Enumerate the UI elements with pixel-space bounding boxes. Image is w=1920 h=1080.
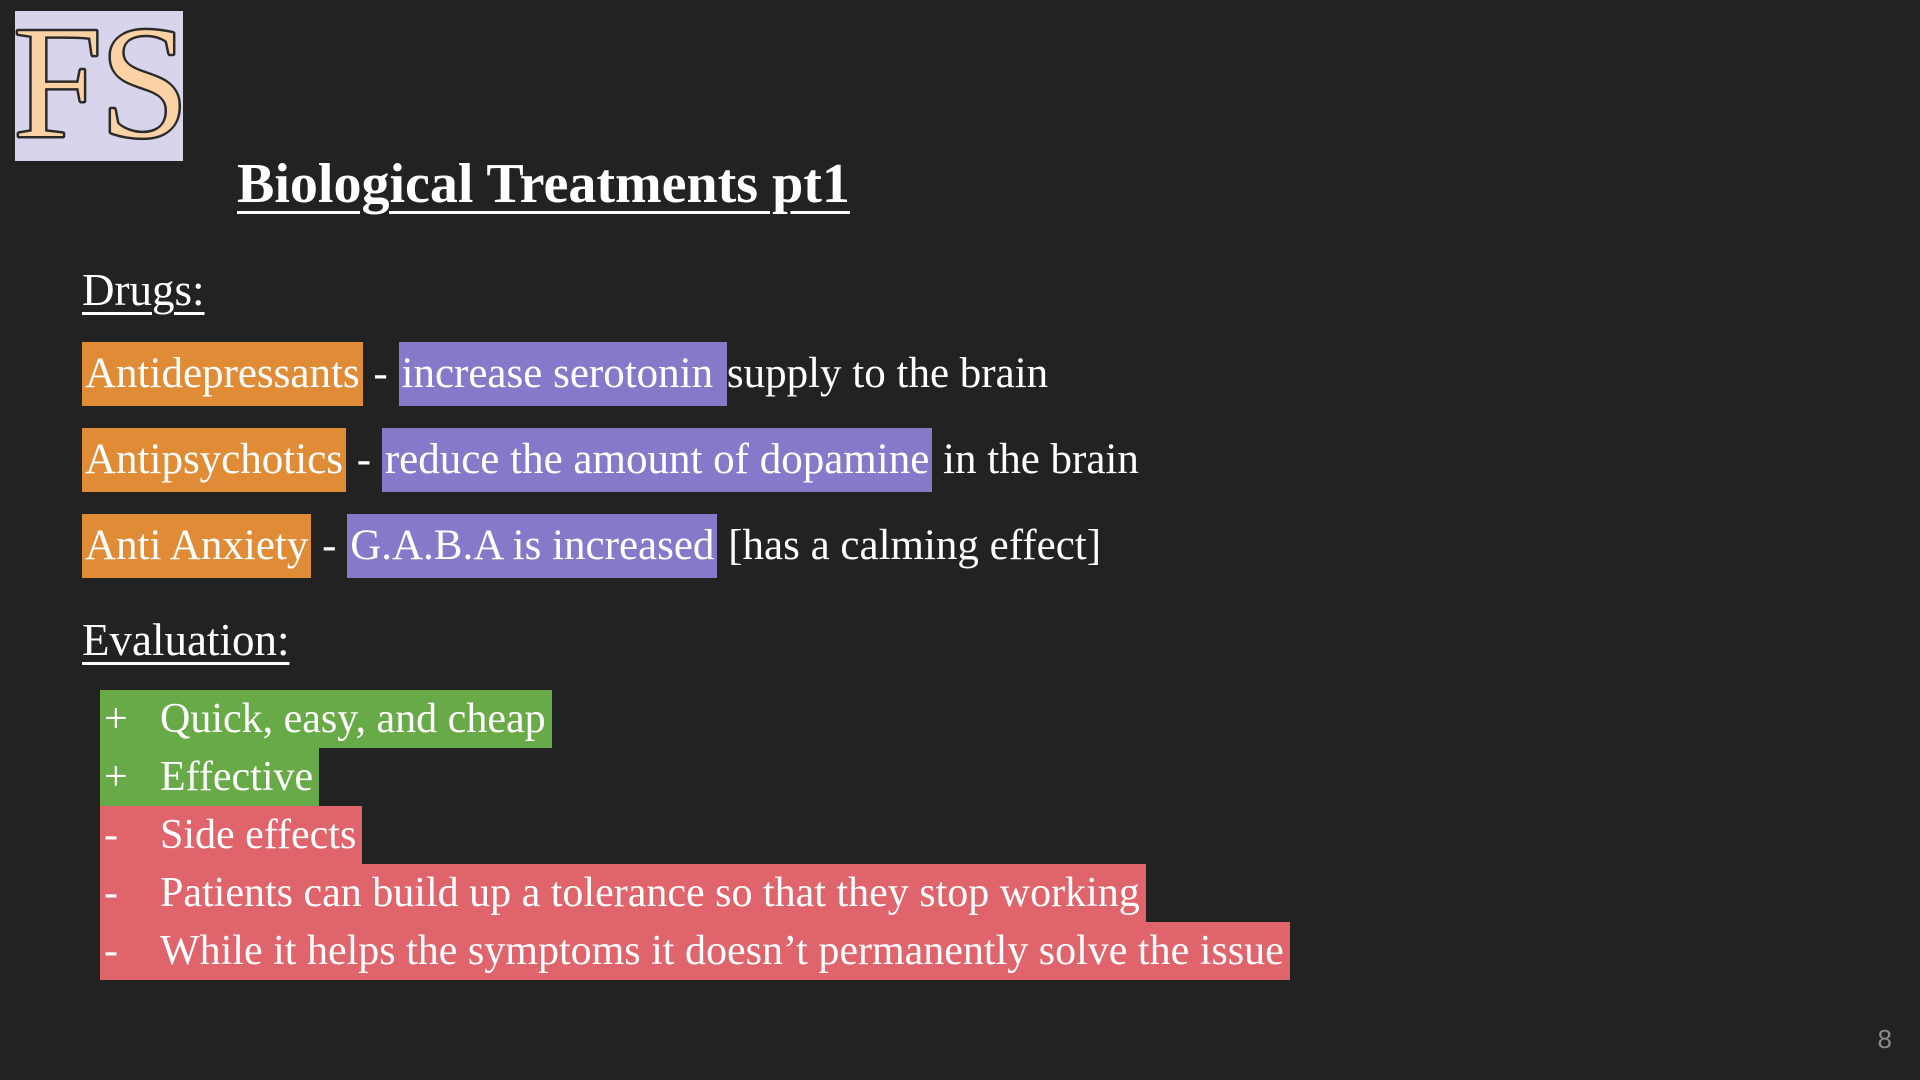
page-number: 8: [1878, 1026, 1892, 1052]
list-item-label: Quick, easy, and cheap: [160, 696, 546, 742]
list-item: -While it helps the symptoms it doesn’t …: [100, 922, 1800, 980]
list-item: +Quick, easy, and cheap: [100, 690, 1800, 748]
drug-line-antipsychotics: Antipsychotics - reduce the amount of do…: [82, 438, 1139, 481]
drugs-heading: Drugs:: [82, 268, 205, 313]
list-item-label: Effective: [160, 754, 313, 800]
minus-icon: -: [104, 922, 160, 980]
drug-line-anti-anxiety: Anti Anxiety - G.A.B.A is increased [has…: [82, 524, 1101, 567]
drug-separator: -: [363, 350, 399, 397]
list-item: -Side effects: [100, 806, 1800, 864]
list-item-row: +Quick, easy, and cheap: [100, 690, 552, 748]
drug-tail: [has a calming effect]: [717, 522, 1101, 569]
drug-mechanism-highlight: increase serotonin: [399, 342, 727, 406]
slide-canvas: FS Biological Treatments pt1 Drugs: Anti…: [0, 0, 1920, 1080]
plus-icon: +: [104, 748, 160, 806]
drug-tail: supply to the brain: [727, 350, 1048, 397]
drug-mechanism-highlight: reduce the amount of dopamine: [382, 428, 932, 492]
evaluation-list: +Quick, easy, and cheap +Effective -Side…: [100, 690, 1800, 980]
drug-term-highlight: Antidepressants: [82, 342, 363, 406]
list-item-row: -While it helps the symptoms it doesn’t …: [100, 922, 1290, 980]
slide-body: Drugs: Antidepressants - increase seroto…: [0, 0, 1920, 1080]
list-item-row: -Side effects: [100, 806, 362, 864]
list-item-label: Patients can build up a tolerance so tha…: [160, 870, 1140, 916]
drug-separator: -: [311, 522, 347, 569]
minus-icon: -: [104, 864, 160, 922]
list-item-label: Side effects: [160, 812, 356, 858]
drug-tail: in the brain: [932, 436, 1139, 483]
list-item-label: While it helps the symptoms it doesn’t p…: [160, 928, 1284, 974]
list-item: -Patients can build up a tolerance so th…: [100, 864, 1800, 922]
drug-term-highlight: Antipsychotics: [82, 428, 346, 492]
drug-separator: -: [346, 436, 382, 483]
drug-line-antidepressants: Antidepressants - increase serotonin sup…: [82, 352, 1048, 395]
plus-icon: +: [104, 690, 160, 748]
list-item: +Effective: [100, 748, 1800, 806]
drug-mechanism-highlight: G.A.B.A is increased: [347, 514, 717, 578]
evaluation-heading: Evaluation:: [82, 618, 289, 663]
drug-term-highlight: Anti Anxiety: [82, 514, 311, 578]
list-item-row: -Patients can build up a tolerance so th…: [100, 864, 1146, 922]
minus-icon: -: [104, 806, 160, 864]
list-item-row: +Effective: [100, 748, 319, 806]
